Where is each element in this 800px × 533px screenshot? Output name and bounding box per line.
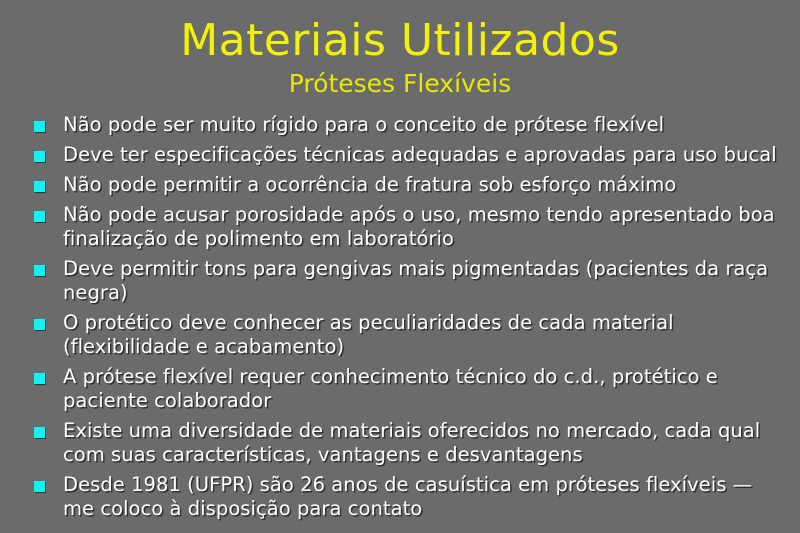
square-bullet-icon <box>34 319 45 330</box>
list-item: O protético deve conhecer as peculiarida… <box>30 311 786 359</box>
title-block: Materiais Utilizados Próteses Flexíveis <box>0 0 800 98</box>
list-item-label: Não pode ser muito rígido para o conceit… <box>63 113 786 137</box>
list-item-label: Não pode acusar porosidade após o uso, m… <box>63 203 786 251</box>
square-bullet-icon <box>34 121 45 132</box>
list-item: A prótese flexível requer conhecimento t… <box>30 365 786 413</box>
list-item-label: Não pode permitir a ocorrência de fratur… <box>63 173 786 197</box>
presentation-slide: Materiais Utilizados Próteses Flexíveis … <box>0 0 800 533</box>
square-bullet-icon <box>34 211 45 222</box>
list-item: Deve ter especificações técnicas adequad… <box>30 143 786 167</box>
square-bullet-icon <box>34 481 45 492</box>
list-item-label: Deve ter especificações técnicas adequad… <box>63 143 786 167</box>
square-bullet-icon <box>34 265 45 276</box>
list-item-label: A prótese flexível requer conhecimento t… <box>63 365 786 413</box>
list-item-label: O protético deve conhecer as peculiarida… <box>63 311 786 359</box>
square-bullet-icon <box>34 427 45 438</box>
page-title: Materiais Utilizados <box>0 18 800 64</box>
bullet-list: Não pode ser muito rígido para o conceit… <box>30 113 786 527</box>
list-item-label: Existe uma diversidade de materiais ofer… <box>63 419 786 467</box>
square-bullet-icon <box>34 151 45 162</box>
list-item-label: Deve permitir tons para gengivas mais pi… <box>63 257 786 305</box>
list-item: Não pode acusar porosidade após o uso, m… <box>30 203 786 251</box>
square-bullet-icon <box>34 181 45 192</box>
list-item-label: Desde 1981 (UFPR) são 26 anos de casuíst… <box>63 473 786 521</box>
page-subtitle: Próteses Flexíveis <box>0 70 800 98</box>
list-item: Desde 1981 (UFPR) são 26 anos de casuíst… <box>30 473 786 521</box>
list-item: Deve permitir tons para gengivas mais pi… <box>30 257 786 305</box>
list-item: Não pode ser muito rígido para o conceit… <box>30 113 786 137</box>
square-bullet-icon <box>34 373 45 384</box>
list-item: Existe uma diversidade de materiais ofer… <box>30 419 786 467</box>
list-item: Não pode permitir a ocorrência de fratur… <box>30 173 786 197</box>
